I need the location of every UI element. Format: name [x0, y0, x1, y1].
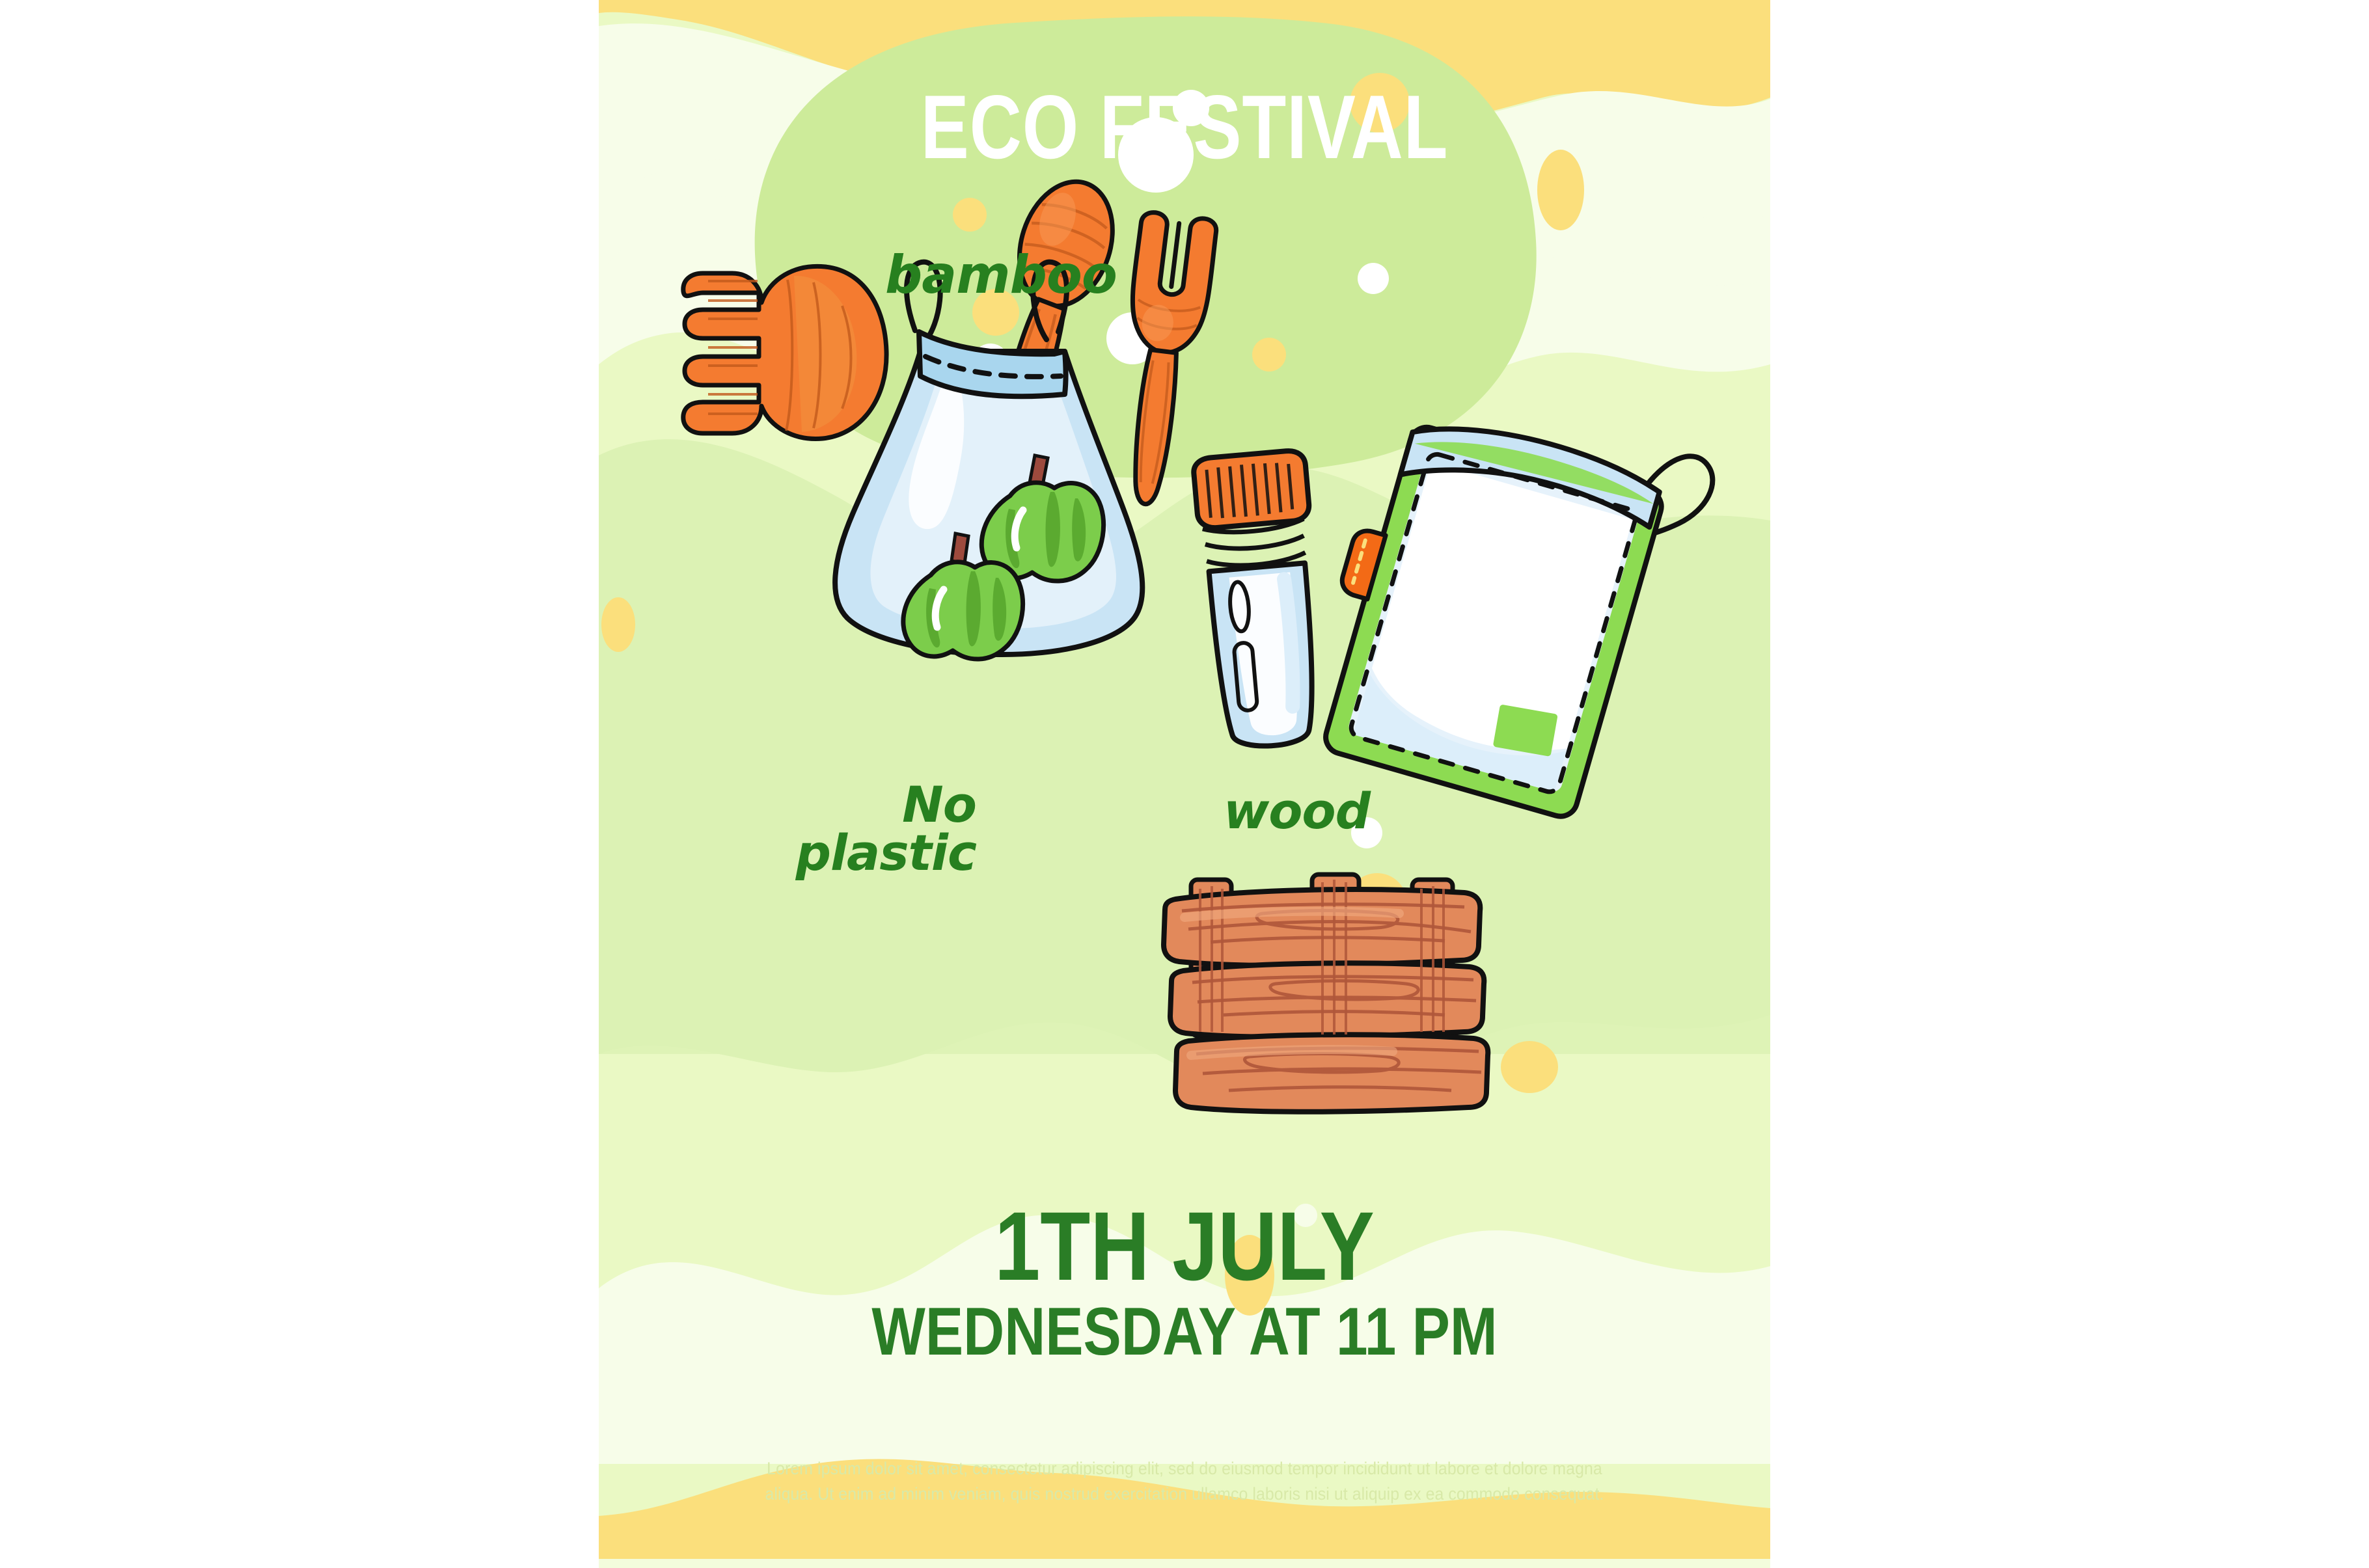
event-time: WEDNESDAY AT 11 PM — [692, 1298, 1677, 1366]
event-date: 1TH JULY — [692, 1197, 1677, 1295]
deco-circle-white-6 — [1441, 465, 1475, 498]
deco-ellipse-yellow-10 — [601, 597, 635, 652]
page-title: ECO FESTIVAL — [716, 82, 1653, 172]
label-no-plastic: No plastic — [794, 781, 976, 878]
deco-ellipse-yellow-6 — [1347, 873, 1407, 933]
label-wood: wood — [1224, 787, 1370, 835]
fineprint-text: Lorem ipsum dolor sit amet, consectetur … — [754, 1456, 1616, 1507]
deco-ellipse-yellow-8 — [1501, 1041, 1558, 1093]
deco-ellipse-yellow-2 — [953, 198, 987, 232]
deco-ellipse-yellow-5 — [1014, 459, 1058, 504]
green-lobe-right — [1360, 485, 1660, 725]
deco-circle-white-4 — [972, 344, 1009, 380]
deco-circle-white-5 — [1358, 263, 1389, 294]
deco-circle-white-7 — [1397, 484, 1417, 505]
eco-festival-poster: ECO FESTIVAL bamboo No plastic wood 1TH … — [599, 0, 1770, 1568]
deco-circle-white-3 — [1106, 312, 1158, 364]
label-bamboo: bamboo — [885, 250, 1117, 301]
bottom-edge-strip — [599, 1559, 1770, 1568]
deco-circle-white-9 — [1420, 718, 1441, 739]
screenshot-canvas: ECO FESTIVAL bamboo No plastic wood 1TH … — [0, 0, 2369, 1568]
green-lobe-left — [709, 514, 879, 631]
deco-ellipse-yellow-4 — [1252, 338, 1286, 372]
